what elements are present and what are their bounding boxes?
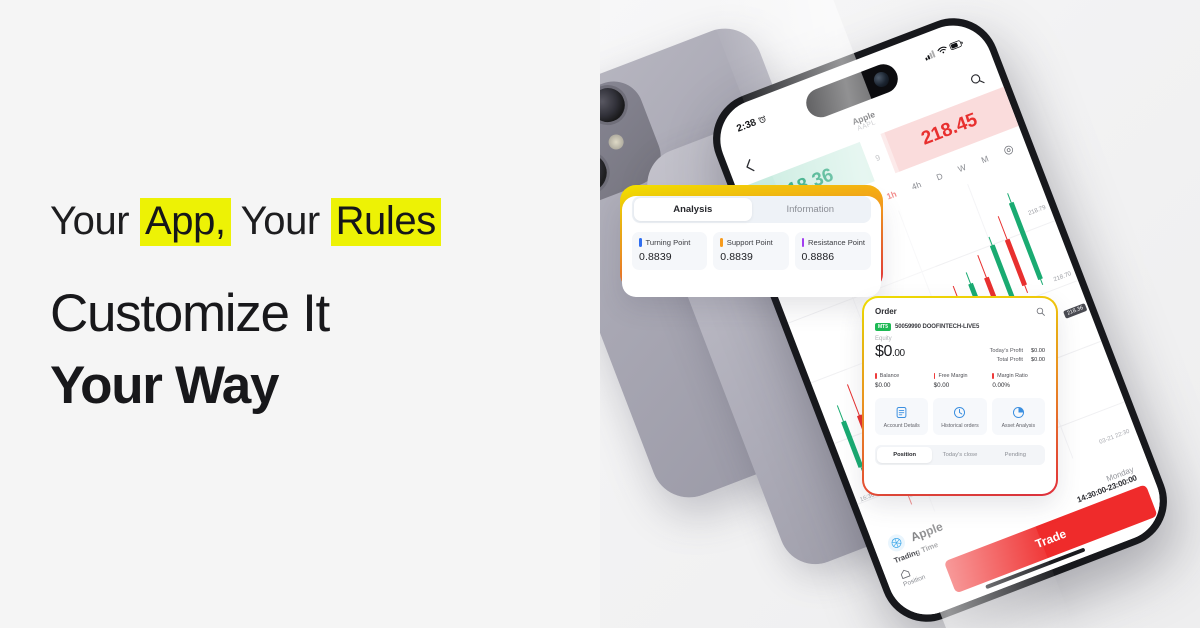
symbol-title: Apple AAPL [851,110,879,134]
metric-support-point[interactable]: Support Point 0.8839 [713,232,788,270]
timeframe-1h[interactable]: 1h [885,189,898,202]
profit-block: Today's Profit $0.00 Total Profit $0.00 [990,343,1045,365]
timeframe-d[interactable]: D [935,171,944,183]
metric-label: Free Margin [938,373,967,379]
headline-text-1: Your [50,199,140,243]
candle [996,215,1030,293]
account-row[interactable]: MT5 50059990 DOOFINTECH-LIVE5 [864,316,1056,331]
tab-todays-close[interactable]: Today's close [932,447,987,463]
metric-value: 0.8839 [720,251,782,263]
metric-margin-ratio: Margin Ratio 0.00% [992,373,1045,389]
mt5-badge: MT5 [875,323,891,331]
metric-resistance-point[interactable]: Resistance Point 0.8886 [795,232,871,270]
tab-pending[interactable]: Pending [988,447,1043,463]
metric-value: 0.8839 [639,251,701,263]
metric-label: Resistance Point [808,238,865,247]
analysis-metrics: Turning Point 0.8839 Support Point 0.883… [632,232,871,270]
headline-line-2: Customize It [50,280,550,348]
metric-value: 0.8886 [802,251,865,263]
hero-copy: Your App, Your Rules Customize It Your W… [50,196,550,420]
metric-label: Support Point [727,238,773,247]
action-label: Asset Analysis [1002,423,1035,429]
search-icon[interactable] [1036,307,1045,316]
metric-color-bar [639,238,642,247]
battery-icon [949,39,965,51]
equity-main: $0 [875,343,892,360]
metric-label: Margin Ratio [997,373,1028,379]
metric-color-bar [802,238,805,247]
metric-label: Turning Point [646,238,691,247]
equity-cents: .00 [892,348,905,359]
tab-position[interactable]: Position [877,447,932,463]
tab-analysis[interactable]: Analysis [634,198,752,221]
headline-highlight-app: App, [140,198,231,246]
todays-profit-label: Today's Profit [990,347,1023,356]
account-number: 50059990 DOOFINTECH-LIVE5 [895,324,979,330]
price-tick-2: 218.70 [1053,271,1072,283]
order-metrics: Balance $0.00 Free Margin $0.00 Margin R… [864,365,1056,389]
metric-value: 0.00% [992,382,1045,389]
current-price-tag: 218.36 [1063,303,1087,319]
analysis-callout-card: Analysis Information Turning Point 0.883… [620,185,883,290]
pie-chart-icon [1012,406,1025,419]
headline-text-2: Your [231,199,331,243]
metric-value: $0.00 [934,382,987,389]
wifi-icon [936,45,948,56]
order-callout-card: + Order MT5 50059990 DOOFINTECH-LIVE5 Eq… [862,296,1058,496]
metric-turning-point[interactable]: Turning Point 0.8839 [632,232,707,270]
metric-label: Balance [880,373,899,379]
headline-line-3: Your Way [50,352,550,420]
order-title: Order [875,307,897,316]
status-time: 2:38 [735,117,758,134]
search-icon[interactable] [968,70,985,87]
action-asset-analysis[interactable]: Asset Analysis [992,398,1045,435]
timeframe-w[interactable]: W [956,162,967,174]
metric-color-bar [992,373,994,379]
total-profit-value: $0.00 [1031,356,1045,365]
metric-value: $0.00 [875,382,928,389]
equity-label: Equity [864,331,1056,342]
order-header: Order [864,298,1056,316]
action-label: Account Details [884,423,920,429]
camera-flash-icon [606,132,625,151]
analysis-tabs: Analysis Information [632,196,871,223]
action-historical-orders[interactable]: Historical orders [933,398,986,435]
metric-free-margin: Free Margin $0.00 [934,373,987,389]
headline-line-1: Your App, Your Rules [50,196,550,246]
todays-profit-value: $0.00 [1031,347,1045,356]
promo-banner: Your App, Your Rules Customize It Your W… [0,0,1200,628]
action-account-details[interactable]: Account Details [875,398,928,435]
order-tabs: Position Today's close Pending [875,445,1045,465]
tab-information[interactable]: Information [752,198,870,221]
clock-icon [953,406,966,419]
action-label: Historical orders [941,423,978,429]
metric-color-bar [720,238,723,247]
product-photo: 2:38 [600,0,1200,628]
signal-icon [923,49,936,60]
total-profit-label: Total Profit [997,356,1023,365]
order-actions: Account Details Historical orders [864,389,1056,435]
metric-color-bar [934,373,936,379]
timeframe-m[interactable]: M [980,153,990,165]
chevron-left-icon[interactable] [743,158,756,174]
camera-lens-icon [600,144,616,201]
equity-value: $0.00 [875,343,905,361]
gear-icon[interactable] [1002,144,1015,157]
camera-lens-icon [600,79,634,131]
headline-highlight-rules: Rules [331,198,441,246]
metric-balance: Balance $0.00 [875,373,928,389]
document-icon [895,406,908,419]
alarm-icon [757,114,767,124]
metric-color-bar [875,373,877,379]
timeframe-4h[interactable]: 4h [910,179,922,192]
price-tick-1: 218.79 [1028,205,1047,217]
